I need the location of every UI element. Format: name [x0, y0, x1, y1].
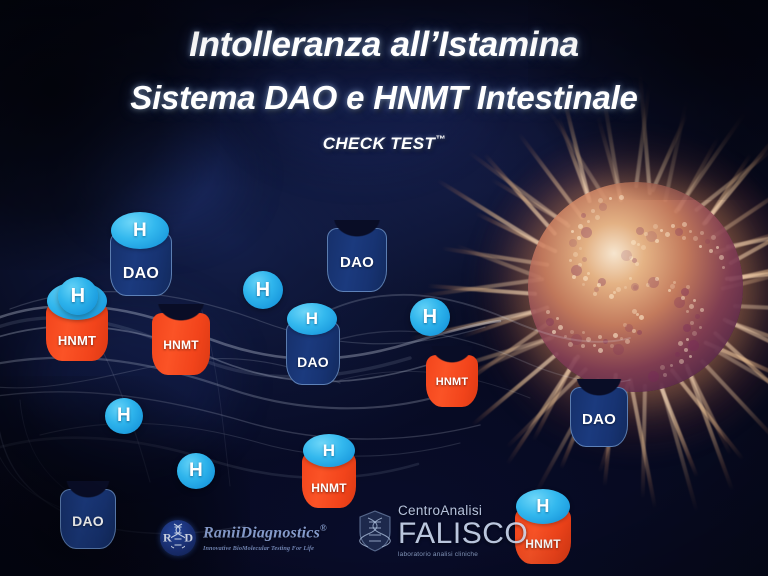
cell-texture-dot [653, 224, 658, 229]
cell-texture-dot [619, 195, 624, 200]
cell-texture-dot [571, 230, 574, 233]
cell-texture-dot [686, 285, 690, 289]
trademark-symbol: ™ [435, 134, 445, 145]
histamine-label: H [189, 460, 203, 482]
cell-texture-dot [648, 371, 659, 382]
rani-mark-letter-right: D [184, 531, 193, 546]
histamine-molecule[interactable]: H [243, 271, 283, 309]
cell-cilium [416, 277, 543, 298]
falisco-shield-dna-icon [358, 510, 392, 552]
dao-enzyme[interactable]: DAO [60, 489, 114, 547]
binding-site-notch [326, 220, 388, 240]
cell-texture-dot [552, 330, 556, 334]
title-block: Intolleranza all’Istamina Sistema DAO e … [0, 0, 768, 154]
binding-site-notch [59, 481, 117, 501]
cell-texture-dot [586, 337, 591, 342]
hnmt-enzyme[interactable]: HNMT [426, 355, 478, 407]
cell-texture-dot [613, 291, 616, 294]
cell-cilium [659, 386, 699, 478]
cell-texture-dot [699, 326, 702, 329]
histamine-label: H [303, 441, 355, 461]
hnmt-label: HNMT [426, 376, 478, 388]
cell-cilium [714, 348, 768, 420]
cell-texture-dot [597, 283, 601, 287]
cell-cilium [475, 211, 558, 253]
cell-texture-dot [670, 284, 675, 289]
cell-texture-dot [636, 227, 644, 235]
cell-texture-dot [679, 359, 684, 364]
cell-texture-dot [598, 348, 603, 353]
check-test-label: CHECK TEST™ [0, 114, 768, 154]
cell-texture-dot [693, 299, 696, 302]
cell-texture-dot [637, 243, 640, 246]
cell-texture-dot [581, 344, 585, 348]
cell-texture-dot [683, 324, 691, 332]
cell-cilium [694, 145, 768, 212]
cell-texture-dot [570, 330, 574, 334]
cell-texture-dot [678, 341, 683, 346]
histamine-label: H [71, 285, 86, 308]
dao-label: DAO [287, 354, 339, 370]
binding-site-notch [424, 346, 480, 366]
cell-texture-dot [641, 245, 646, 250]
hnmt-label: HNMT [152, 338, 210, 352]
cell-texture-dot [644, 232, 648, 236]
cell-texture-dot [719, 255, 724, 260]
histamine-label: H [256, 279, 271, 302]
cell-texture-dot [646, 231, 657, 242]
histamine-bound-to-hnmt[interactable]: H [303, 434, 355, 467]
dao-label: DAO [328, 254, 386, 271]
cell-texture-dot [569, 259, 572, 262]
cell-cilium [640, 383, 646, 498]
cell-cilium [461, 305, 549, 338]
dao-enzyme[interactable]: DAOH [286, 303, 338, 383]
cell-cilium [704, 152, 753, 224]
cell-texture-dot [636, 313, 639, 316]
cell-texture-dot [593, 292, 597, 296]
cell-texture-dot [616, 287, 621, 292]
cell-texture-dot [587, 272, 590, 275]
cell-texture-dot [546, 310, 550, 314]
cell-texture-dot [629, 277, 632, 280]
cell-cilium [684, 364, 734, 492]
rani-dna-mark-icon: R D [160, 520, 196, 556]
cell-texture-dot [716, 246, 719, 249]
rani-name-text: RaniiDiagnostics [203, 525, 320, 542]
cell-texture-dot [610, 344, 614, 348]
dao-label: DAO [111, 265, 171, 283]
cell-cilium [721, 267, 768, 291]
histamine-molecule[interactable]: H [177, 453, 215, 489]
cell-texture-dot [593, 344, 596, 347]
cell-texture-dot [631, 240, 636, 245]
cell-texture-dot [684, 348, 688, 352]
dao-barrel: DAO [327, 228, 387, 292]
cell-cilium [714, 227, 768, 255]
cell-texture-dot [581, 213, 586, 218]
cell-texture-dot [682, 236, 686, 240]
cell-texture-dot [670, 364, 673, 367]
cell-texture-dot [635, 262, 639, 266]
cell-texture-dot [660, 365, 665, 370]
dna-helix-icon [171, 523, 185, 553]
cell-texture-dot [665, 232, 670, 237]
cell-texture-dot [581, 227, 592, 238]
cell-texture-dot [639, 315, 644, 320]
cell-cilium [700, 358, 768, 446]
cell-texture-dot [620, 337, 623, 340]
cell-texture-dot [674, 297, 685, 308]
cell-cilium [733, 304, 768, 313]
cell-texture-dot [682, 222, 687, 227]
cell-cilium [728, 260, 768, 282]
cell-texture-dot [546, 318, 554, 326]
cell-cilium [465, 336, 552, 377]
cell-texture-dot [646, 283, 650, 287]
cell-texture-dot [668, 289, 671, 292]
cell-texture-dot [655, 239, 659, 243]
cell-texture-dot [700, 308, 704, 312]
cell-cilium [713, 330, 768, 412]
check-test-text: CHECK TEST [323, 134, 436, 153]
cell-texture-dot [681, 296, 685, 300]
cell-texture-dot [582, 331, 585, 334]
cell-texture-dot [675, 228, 683, 236]
cell-texture-dot [688, 340, 699, 351]
cell-texture-dot [571, 334, 582, 345]
hnmt-enzyme[interactable]: HNMT [152, 313, 210, 375]
cell-body [528, 182, 743, 392]
cell-texture-dot [621, 250, 632, 261]
cell-texture-dot [690, 321, 694, 325]
falisco-top-text: CentroAnalisi [398, 504, 528, 518]
cell-texture-dot [625, 339, 630, 344]
cell-texture-dot [568, 342, 573, 347]
cell-cilium [471, 352, 559, 427]
binding-site-notch [569, 379, 629, 399]
cell-texture-dot [603, 339, 608, 344]
cell-texture-dot [609, 294, 614, 299]
cell-texture-dot [648, 277, 659, 288]
cell-cilium [725, 264, 768, 281]
cell-texture-dot [591, 209, 595, 213]
cell-texture-dot [629, 256, 633, 260]
cell-texture-dot [598, 335, 602, 339]
rani-tagline: Innovative BioMolecular Testing For Life [203, 545, 327, 552]
dao-label: DAO [571, 411, 627, 428]
histamine-label: H [423, 306, 438, 329]
cell-texture-dot [598, 278, 606, 286]
cell-texture-dot [632, 329, 636, 333]
hnmt-label: HNMT [46, 333, 108, 348]
cell-texture-dot [693, 236, 698, 241]
dao-enzyme[interactable]: DAOH [110, 212, 170, 294]
cell-texture-dot [577, 236, 581, 240]
cell-cilium [722, 317, 768, 380]
cell-texture-dot [632, 258, 637, 263]
cell-texture-dot [598, 198, 603, 203]
slide-canvas: Intolleranza all’Istamina Sistema DAO e … [0, 0, 768, 576]
cell-cilium [670, 368, 745, 461]
histamine-bound-to-dao[interactable]: H [111, 212, 169, 249]
histamine-bound-to-dao[interactable]: H [287, 303, 337, 335]
cell-cilium [728, 213, 768, 266]
cell-texture-dot [564, 335, 567, 338]
cell-texture-dot [625, 324, 633, 332]
cell-texture-dot [722, 266, 725, 269]
cell-texture-dot [599, 203, 607, 211]
cell-texture-dot [663, 373, 667, 377]
logo-rani-diagnostics[interactable]: R D RaniiDiagnostics® Innovative BioMole… [160, 516, 345, 560]
hnmt-label: HNMT [302, 481, 356, 495]
hnmt-enzyme[interactable]: HNMTH [302, 434, 356, 508]
dao-enzyme[interactable]: DAO [570, 387, 626, 445]
cell-texture-dot [699, 245, 702, 248]
cell-texture-dot [689, 355, 692, 358]
cell-cilium [441, 246, 549, 267]
falisco-tagline: laboratorio analisi cliniche [398, 552, 528, 559]
cell-cilium [455, 243, 541, 279]
cell-texture-dot [613, 333, 618, 338]
cell-cilium [436, 179, 546, 249]
cell-texture-dot [578, 224, 583, 229]
cell-texture-dot [681, 288, 689, 296]
cell-texture-dot [579, 247, 582, 250]
cell-texture-dot [692, 331, 697, 336]
histamine-label: H [117, 405, 131, 427]
dao-barrel: DAO [570, 387, 628, 447]
histamine-label: H [287, 309, 337, 329]
cell-texture-dot [709, 249, 713, 253]
histamine-molecule[interactable]: H [58, 277, 98, 315]
cell-cilium [483, 152, 558, 236]
cell-texture-dot [695, 314, 700, 319]
cell-texture-dot [623, 323, 627, 327]
falisco-wordmark: FALISCO [398, 519, 528, 549]
dao-barrel: DAO [60, 489, 116, 549]
cell-texture-dot [660, 229, 663, 232]
cell-cilium [467, 151, 571, 229]
binding-site-notch [150, 304, 212, 324]
rani-wordmark: RaniiDiagnostics® [203, 524, 327, 542]
cell-texture-dot [624, 286, 627, 289]
page-subtitle-line: Sistema DAO e HNMT Intestinale [0, 62, 768, 114]
cell-texture-dot [689, 304, 694, 309]
cell-cilium [709, 181, 768, 241]
cell-texture-dot [582, 257, 587, 262]
cell-texture-dot [705, 239, 710, 244]
cell-cilium [490, 178, 569, 226]
cell-texture-dot [700, 231, 704, 235]
cell-texture-dot [571, 265, 582, 276]
hnmt-barrel: HNMT [152, 313, 210, 375]
histamine-molecule[interactable]: H [410, 298, 450, 336]
cell-texture-dot [613, 344, 624, 355]
cell-texture-dot [631, 283, 639, 291]
cell-cilium [427, 284, 537, 296]
cell-cilium [703, 341, 768, 385]
cell-texture-dot [671, 224, 675, 228]
cell-cilium [725, 222, 768, 248]
cell-texture-dot [583, 276, 588, 281]
cell-cilium [725, 319, 768, 356]
dao-enzyme[interactable]: DAO [327, 228, 385, 290]
logo-centro-analisi-falisco[interactable]: CentroAnalisi FALISCO laboratorio analis… [358, 498, 528, 564]
cell-texture-dot [594, 287, 599, 292]
cell-texture-dot [558, 325, 563, 330]
cell-texture-dot [689, 230, 692, 233]
cell-texture-dot [609, 197, 612, 200]
page-title: Intolleranza all’Istamina [0, 0, 768, 62]
histamine-molecule[interactable]: H [105, 398, 143, 434]
hnmt-barrel: HNMT [426, 355, 478, 407]
cell-texture-dot [633, 285, 638, 290]
registered-symbol: ® [320, 523, 327, 533]
cell-texture-dot [572, 275, 576, 279]
cell-texture-dot [686, 310, 689, 313]
cell-texture-dot [578, 263, 582, 267]
cell-texture-dot [569, 239, 577, 247]
cell-texture-dot [675, 352, 680, 357]
cell-texture-dot [637, 330, 642, 335]
histamine-label: H [111, 220, 169, 242]
cell-texture-dot [711, 235, 716, 240]
cell-texture-dot [632, 309, 637, 314]
cell-texture-dot [582, 283, 585, 286]
cell-texture-dot [673, 281, 676, 284]
cell-texture-dot [686, 338, 689, 341]
cell-texture-dot [595, 215, 600, 220]
dao-label: DAO [61, 513, 115, 529]
cell-texture-dot [655, 277, 659, 281]
cell-texture-dot [573, 252, 578, 257]
cell-cilium [628, 377, 657, 508]
cell-cilium [659, 383, 699, 513]
cell-texture-dot [556, 317, 559, 320]
cell-cilium [685, 367, 732, 457]
cell-texture-dot [587, 220, 590, 223]
